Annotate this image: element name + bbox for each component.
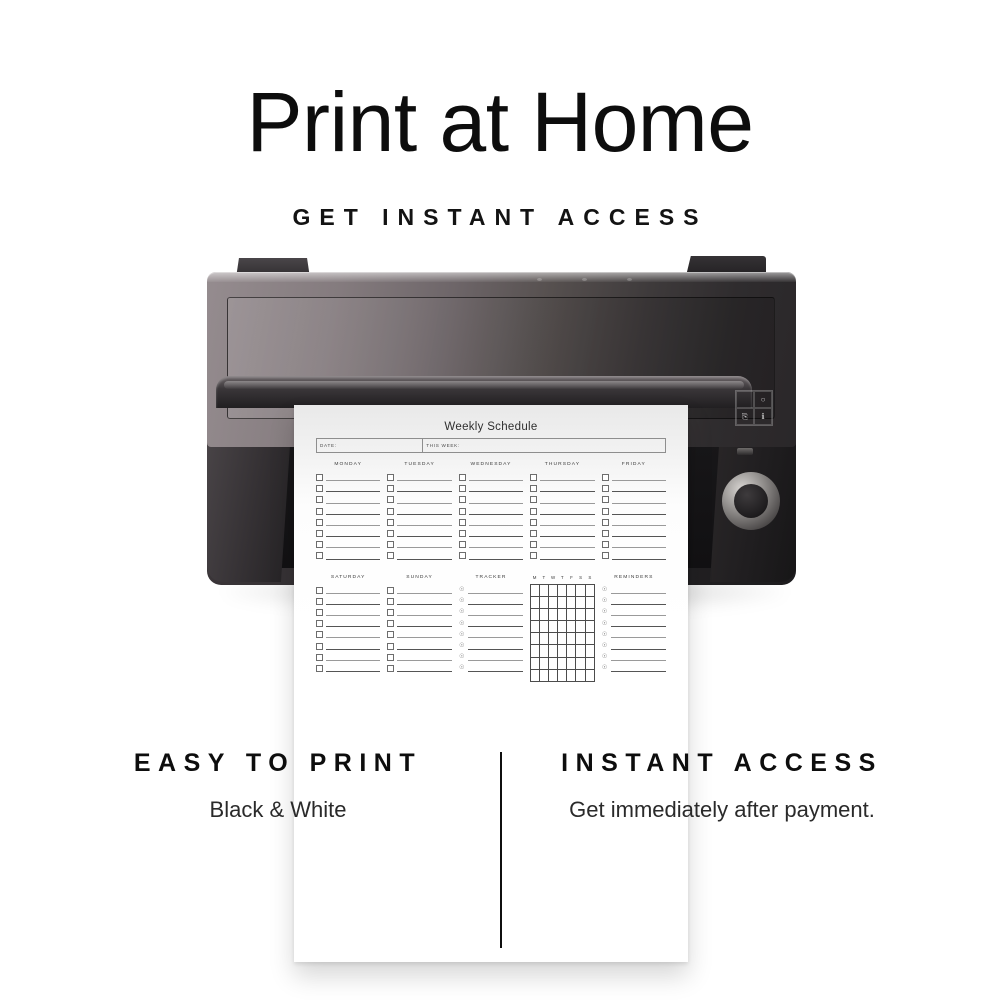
circle-marker-icon: ☉: [602, 598, 608, 604]
checkbox-icon[interactable]: [316, 552, 323, 559]
schedule-row[interactable]: ☉: [602, 663, 666, 674]
checkbox-icon[interactable]: [316, 654, 323, 661]
write-line: [612, 525, 666, 526]
write-line: [612, 514, 666, 515]
tracker-grid-cell[interactable]: [576, 645, 585, 657]
paper-output-slot: [216, 376, 752, 408]
checkbox-icon[interactable]: [387, 665, 394, 672]
schedule-row[interactable]: [530, 494, 594, 505]
write-line: [326, 593, 380, 594]
write-line: [468, 604, 523, 605]
write-line: [397, 536, 451, 537]
tracker-grid-cell[interactable]: [531, 645, 540, 657]
checkbox-icon[interactable]: [459, 508, 466, 515]
checkbox-icon[interactable]: [459, 530, 466, 537]
checkbox-icon[interactable]: [530, 519, 537, 526]
schedule-row[interactable]: ☉: [459, 596, 523, 607]
checkbox-icon[interactable]: [602, 474, 609, 481]
day-column-thursday: THURSDAY: [530, 462, 594, 562]
checkbox-icon[interactable]: [530, 541, 537, 548]
write-line: [397, 559, 451, 560]
write-line: [469, 559, 523, 560]
schedule-row[interactable]: [387, 550, 451, 561]
schedule-row[interactable]: [602, 483, 666, 494]
section-column-sunday: SUNDAY: [387, 575, 451, 683]
schedule-row[interactable]: [316, 494, 380, 505]
schedule-row[interactable]: [459, 517, 523, 528]
schedule-row[interactable]: [387, 539, 451, 550]
tracker-grid-cell[interactable]: [567, 596, 576, 608]
section-column-reminders: REMINDERS☉☉☉☉☉☉☉☉: [602, 575, 666, 683]
checkbox-icon[interactable]: [387, 508, 394, 515]
write-line: [612, 480, 666, 481]
write-line: [468, 593, 523, 594]
schedule-row[interactable]: ☉: [602, 618, 666, 629]
write-line: [397, 660, 451, 661]
schedule-row[interactable]: [316, 652, 380, 663]
schedule-row[interactable]: [459, 539, 523, 550]
schedule-row[interactable]: [530, 539, 594, 550]
tracker-grid-cell[interactable]: [567, 584, 576, 596]
power-icon[interactable]: ○: [754, 391, 772, 408]
schedule-row[interactable]: [530, 528, 594, 539]
checkbox-icon[interactable]: [316, 474, 323, 481]
tracker-grid-cell[interactable]: [585, 621, 594, 633]
schedule-row[interactable]: [387, 585, 451, 596]
tracker-grid-row[interactable]: [531, 584, 594, 596]
schedule-row[interactable]: [387, 596, 451, 607]
schedule-row[interactable]: ☉: [459, 663, 523, 674]
checkbox-icon[interactable]: [530, 508, 537, 515]
day-column-friday: FRIDAY: [602, 462, 666, 562]
tracker-grid-row[interactable]: [531, 633, 594, 645]
schedule-row[interactable]: [316, 607, 380, 618]
schedule-row[interactable]: [602, 528, 666, 539]
write-line: [611, 626, 666, 627]
tracker-grid-cell[interactable]: [558, 669, 567, 681]
tracker-grid-cell[interactable]: [531, 633, 540, 645]
sheet-meta-row: DATE: THIS WEEK:: [316, 438, 666, 453]
schedule-row[interactable]: ☉: [459, 607, 523, 618]
checkbox-icon[interactable]: [387, 530, 394, 537]
schedule-row[interactable]: [316, 585, 380, 596]
tracker-grid-cell[interactable]: [540, 633, 549, 645]
write-line: [397, 649, 451, 650]
schedule-row[interactable]: ☉: [602, 596, 666, 607]
tracker-grid-cell[interactable]: [585, 584, 594, 596]
write-line: [397, 626, 451, 627]
tracker-grid-cell[interactable]: [576, 596, 585, 608]
tracker-grid-cell[interactable]: [540, 608, 549, 620]
schedule-row[interactable]: [387, 629, 451, 640]
checkbox-icon[interactable]: [459, 519, 466, 526]
checkbox-icon[interactable]: [602, 541, 609, 548]
write-line: [326, 637, 380, 638]
circle-marker-icon: ☉: [459, 643, 465, 649]
write-line: [397, 491, 451, 492]
checkbox-icon[interactable]: [530, 552, 537, 559]
schedule-row[interactable]: [602, 494, 666, 505]
write-line: [611, 649, 666, 650]
write-line: [468, 660, 523, 661]
checkbox-icon[interactable]: [387, 541, 394, 548]
tracker-grid-cell[interactable]: [531, 608, 540, 620]
circle-marker-icon: ☉: [459, 665, 465, 671]
tracker-grid-cell[interactable]: [531, 657, 540, 669]
schedule-row[interactable]: [316, 596, 380, 607]
tracker-grid-row[interactable]: [531, 645, 594, 657]
tracker-grid-cell[interactable]: [576, 584, 585, 596]
write-line: [326, 491, 380, 492]
tracker-grid-cell[interactable]: [540, 645, 549, 657]
schedule-row[interactable]: [459, 472, 523, 483]
checkbox-icon[interactable]: [316, 620, 323, 627]
page-subtitle: GET INSTANT ACCESS: [0, 204, 1000, 231]
write-line: [611, 660, 666, 661]
printer-top-highlight: [207, 272, 796, 282]
feature-subtitle: Get immediately after payment.: [512, 794, 932, 826]
checkbox-icon[interactable]: [530, 530, 537, 537]
write-line: [397, 593, 451, 594]
schedule-row[interactable]: [387, 652, 451, 663]
info-icon[interactable]: ℹ: [754, 408, 772, 425]
schedule-row[interactable]: ☉: [602, 652, 666, 663]
checkbox-icon[interactable]: [387, 598, 394, 605]
schedule-row[interactable]: ☉: [602, 640, 666, 651]
sheet-title: Weekly Schedule: [316, 421, 666, 433]
checkbox-icon[interactable]: [387, 620, 394, 627]
checkbox-icon[interactable]: [316, 609, 323, 616]
schedule-row[interactable]: [316, 663, 380, 674]
this-week-field-label: THIS WEEK:: [423, 439, 665, 452]
schedule-row[interactable]: ☉: [459, 640, 523, 651]
schedule-row[interactable]: [316, 629, 380, 640]
tracker-grid-cell[interactable]: [549, 584, 558, 596]
tracker-grid-cell[interactable]: [567, 608, 576, 620]
schedule-row[interactable]: [602, 539, 666, 550]
schedule-row[interactable]: ☉: [602, 607, 666, 618]
printer-control-pad[interactable]: ○ ⎘ ℹ: [735, 390, 773, 426]
schedule-row[interactable]: ☉: [602, 585, 666, 596]
write-line: [612, 503, 666, 504]
schedule-row[interactable]: [459, 550, 523, 561]
schedule-row[interactable]: [387, 494, 451, 505]
circle-marker-icon: ☉: [602, 609, 608, 615]
checkbox-icon[interactable]: [459, 485, 466, 492]
tracker-grid-cell[interactable]: [540, 584, 549, 596]
write-line: [397, 480, 451, 481]
schedule-row[interactable]: [316, 472, 380, 483]
checkbox-icon[interactable]: [602, 530, 609, 537]
tracker-grid-cell[interactable]: [558, 596, 567, 608]
checkbox-icon[interactable]: [530, 496, 537, 503]
tracker-grid-cell[interactable]: [549, 669, 558, 681]
write-line: [468, 615, 523, 616]
schedule-row[interactable]: [459, 506, 523, 517]
tracker-grid-cell[interactable]: [531, 596, 540, 608]
circle-marker-icon: ☉: [459, 598, 465, 604]
tracker-grid-cell[interactable]: [567, 669, 576, 681]
schedule-row[interactable]: [316, 550, 380, 561]
checkbox-icon[interactable]: [459, 496, 466, 503]
write-line: [469, 514, 523, 515]
write-line: [540, 514, 594, 515]
tracker-grid-cell[interactable]: [576, 608, 585, 620]
checkbox-icon[interactable]: [387, 643, 394, 650]
schedule-row[interactable]: [387, 640, 451, 651]
write-line: [326, 626, 380, 627]
tracker-grid-cell[interactable]: [531, 621, 540, 633]
feature-title: EASY TO PRINT: [68, 745, 488, 781]
schedule-row[interactable]: [316, 539, 380, 550]
section-spacer: [316, 562, 666, 575]
schedule-row[interactable]: [530, 472, 594, 483]
checkbox-icon[interactable]: [602, 485, 609, 492]
write-line: [469, 536, 523, 537]
write-line: [611, 604, 666, 605]
write-line: [611, 593, 666, 594]
write-line: [612, 559, 666, 560]
write-line: [468, 671, 523, 672]
schedule-row[interactable]: [530, 483, 594, 494]
schedule-row[interactable]: [459, 528, 523, 539]
tracker-grid-cell[interactable]: [585, 633, 594, 645]
tracker-grid-header: MTWTFSS: [530, 575, 594, 580]
tracker-grid-cell[interactable]: [558, 621, 567, 633]
checkbox-icon[interactable]: [316, 519, 323, 526]
checkbox-icon[interactable]: [459, 552, 466, 559]
checkbox-icon[interactable]: [602, 496, 609, 503]
write-line: [326, 547, 380, 548]
write-line: [611, 671, 666, 672]
schedule-row[interactable]: [316, 528, 380, 539]
tracker-grid-cell[interactable]: [540, 669, 549, 681]
tracker-grid-cell[interactable]: [585, 596, 594, 608]
circle-marker-icon: ☉: [602, 654, 608, 660]
checkbox-icon[interactable]: [530, 485, 537, 492]
checkbox-icon[interactable]: [602, 552, 609, 559]
write-line: [540, 525, 594, 526]
schedule-row[interactable]: [316, 483, 380, 494]
write-line: [468, 649, 523, 650]
schedule-row[interactable]: [459, 483, 523, 494]
tracker-grid-cell[interactable]: [549, 596, 558, 608]
write-line: [540, 491, 594, 492]
tracker-grid-cell[interactable]: [558, 633, 567, 645]
schedule-row[interactable]: [387, 618, 451, 629]
schedule-row[interactable]: [316, 506, 380, 517]
checkbox-icon[interactable]: [316, 496, 323, 503]
tracker-grid-cell[interactable]: [576, 669, 585, 681]
features-divider: [500, 752, 502, 948]
day-column-heading: FRIDAY: [602, 462, 666, 467]
checkbox-icon[interactable]: [316, 485, 323, 492]
schedule-row[interactable]: ☉: [459, 652, 523, 663]
checkbox-icon[interactable]: [316, 665, 323, 672]
day-column-wednesday: WEDNESDAY: [459, 462, 523, 562]
tracker-grid-cell[interactable]: [576, 633, 585, 645]
checkbox-icon[interactable]: [387, 609, 394, 616]
tracker-grid-row[interactable]: [531, 596, 594, 608]
tracker-grid-cell[interactable]: [576, 657, 585, 669]
day-column-monday: MONDAY: [316, 462, 380, 562]
feature-subtitle: Black & White: [68, 794, 488, 826]
schedule-row[interactable]: [387, 663, 451, 674]
write-line: [326, 514, 380, 515]
section-column-saturday: SATURDAY: [316, 575, 380, 683]
tracker-grid-cell[interactable]: [549, 621, 558, 633]
tracker-grid-day: T: [539, 575, 548, 580]
section-heading: TRACKER: [459, 575, 523, 580]
tracker-grid-cell[interactable]: [585, 645, 594, 657]
header: Print at Home GET INSTANT ACCESS: [0, 0, 1000, 231]
checkbox-icon[interactable]: [387, 654, 394, 661]
printer-dial-center: [734, 484, 768, 518]
schedule-row[interactable]: [602, 550, 666, 561]
tracker-grid-cell[interactable]: [540, 621, 549, 633]
tracker-grid-cell[interactable]: [540, 596, 549, 608]
tracker-grid-cell[interactable]: [585, 608, 594, 620]
tracker-grid-row[interactable]: [531, 621, 594, 633]
write-line: [326, 649, 380, 650]
checkbox-icon[interactable]: [387, 485, 394, 492]
printer-top-vent-dot: [627, 278, 632, 281]
write-line: [397, 671, 451, 672]
write-line: [612, 536, 666, 537]
section-heading: SATURDAY: [316, 575, 380, 580]
checkbox-icon[interactable]: [387, 474, 394, 481]
circle-marker-icon: ☉: [459, 654, 465, 660]
checkbox-icon[interactable]: [459, 474, 466, 481]
schedule-row[interactable]: [387, 483, 451, 494]
write-line: [326, 615, 380, 616]
write-line: [540, 559, 594, 560]
tracker-grid-row[interactable]: [531, 669, 594, 681]
section-column-tracker: TRACKER☉☉☉☉☉☉☉☉: [459, 575, 523, 683]
checkbox-icon[interactable]: [602, 508, 609, 515]
tracker-grid-cell[interactable]: [531, 669, 540, 681]
tracker-grid-cell[interactable]: [585, 669, 594, 681]
tracker-grid-cell[interactable]: [558, 645, 567, 657]
tracker-grid-cell[interactable]: [549, 645, 558, 657]
tracker-grid-cell[interactable]: [567, 633, 576, 645]
checkbox-icon[interactable]: [387, 587, 394, 594]
printer-led-indicator: [737, 448, 753, 455]
section-heading: REMINDERS: [602, 575, 666, 580]
checkbox-icon[interactable]: [387, 631, 394, 638]
day-column-tuesday: TUESDAY: [387, 462, 451, 562]
checkbox-icon[interactable]: [316, 598, 323, 605]
schedule-row[interactable]: [316, 640, 380, 651]
section-column-weekday-grid: MTWTFSS: [530, 575, 594, 683]
checkbox-icon[interactable]: [459, 541, 466, 548]
feature-instant-access: INSTANT ACCESS Get immediately after pay…: [512, 745, 932, 826]
schedule-row[interactable]: ☉: [459, 618, 523, 629]
printer-dial-knob[interactable]: [722, 472, 780, 530]
circle-marker-icon: ☉: [459, 587, 465, 593]
circle-marker-icon: ☉: [602, 587, 608, 593]
write-line: [326, 503, 380, 504]
tracker-grid-cell[interactable]: [567, 621, 576, 633]
schedule-row[interactable]: ☉: [459, 585, 523, 596]
tracker-grid-cell[interactable]: [540, 657, 549, 669]
tracker-grid-cell[interactable]: [549, 608, 558, 620]
checkbox-icon[interactable]: [387, 552, 394, 559]
checkbox-icon[interactable]: [316, 631, 323, 638]
checkbox-icon[interactable]: [602, 519, 609, 526]
tracker-grid-cell[interactable]: [549, 657, 558, 669]
checkbox-icon[interactable]: [387, 519, 394, 526]
printer-top-vent-dot: [537, 278, 542, 281]
tracker-grid-day: S: [585, 575, 594, 580]
write-line: [469, 480, 523, 481]
day-column-heading: TUESDAY: [387, 462, 451, 467]
schedule-row[interactable]: [602, 472, 666, 483]
checkbox-icon[interactable]: [316, 643, 323, 650]
tracker-grid-cell[interactable]: [567, 657, 576, 669]
schedule-row[interactable]: [387, 517, 451, 528]
circle-marker-icon: ☉: [602, 665, 608, 671]
schedule-row[interactable]: [316, 517, 380, 528]
schedule-row[interactable]: ☉: [459, 629, 523, 640]
schedule-row[interactable]: [387, 607, 451, 618]
write-line: [611, 637, 666, 638]
tracker-grid-cell[interactable]: [558, 608, 567, 620]
page-title: Print at Home: [0, 80, 1000, 164]
schedule-row[interactable]: [530, 517, 594, 528]
schedule-row[interactable]: [387, 506, 451, 517]
circle-marker-icon: ☉: [602, 632, 608, 638]
write-line: [611, 615, 666, 616]
tracker-grid-cell[interactable]: [549, 633, 558, 645]
schedule-row[interactable]: [316, 618, 380, 629]
tracker-grid-cell[interactable]: [585, 657, 594, 669]
circle-marker-icon: ☉: [602, 621, 608, 627]
schedule-row[interactable]: [459, 494, 523, 505]
tracker-grid-cell[interactable]: [531, 584, 540, 596]
tracker-grid-cell[interactable]: [558, 657, 567, 669]
checkbox-icon[interactable]: [316, 508, 323, 515]
checkbox-icon[interactable]: [530, 474, 537, 481]
write-line: [397, 604, 451, 605]
control-blank-icon[interactable]: [736, 391, 754, 408]
schedule-row[interactable]: ☉: [602, 629, 666, 640]
schedule-row[interactable]: [530, 506, 594, 517]
schedule-row[interactable]: [602, 506, 666, 517]
tracker-grid-row[interactable]: [531, 657, 594, 669]
checkbox-icon[interactable]: [316, 587, 323, 594]
checkbox-icon[interactable]: [316, 530, 323, 537]
write-line: [397, 637, 451, 638]
write-line: [612, 491, 666, 492]
write-line: [326, 671, 380, 672]
tracker-grid[interactable]: [530, 584, 594, 683]
tracker-grid-cell[interactable]: [567, 645, 576, 657]
schedule-row[interactable]: [387, 528, 451, 539]
schedule-row[interactable]: [387, 472, 451, 483]
section-heading: SUNDAY: [387, 575, 451, 580]
tracker-grid-cell[interactable]: [558, 584, 567, 596]
checkbox-icon[interactable]: [387, 496, 394, 503]
weekday-columns: MONDAYTUESDAYWEDNESDAYTHURSDAYFRIDAY: [316, 462, 666, 562]
document-icon[interactable]: ⎘: [736, 408, 754, 425]
tracker-grid-row[interactable]: [531, 608, 594, 620]
schedule-row[interactable]: [602, 517, 666, 528]
checkbox-icon[interactable]: [316, 541, 323, 548]
schedule-row[interactable]: [530, 550, 594, 561]
write-line: [540, 480, 594, 481]
tracker-grid-cell[interactable]: [576, 621, 585, 633]
